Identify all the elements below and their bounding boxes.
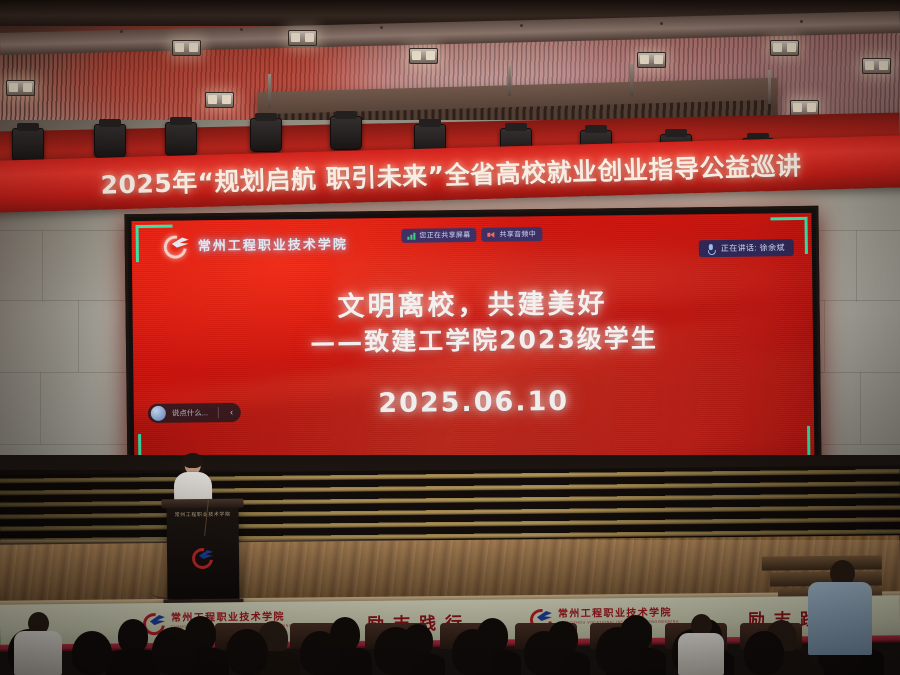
slide-brand-logo: 常州工程职业技术学院 [164,233,348,255]
truss-rod [508,66,511,96]
ceiling-downlight [637,52,666,68]
stage-par-light [94,124,126,158]
ceiling-downlight [205,92,234,108]
ceiling-downlight [862,58,891,74]
share-bracket-top-left [136,225,173,262]
signal-bars-icon [407,232,415,239]
ceiling-downlight [6,80,35,96]
podium-top [161,499,243,509]
truss-rod [268,74,271,108]
audio-share-label: 共享音频中 [499,229,536,239]
standing-person-right [808,560,872,655]
audience-head [596,627,640,675]
audience-head [72,631,112,675]
slide-subtitle: ——致建工学院2023级学生 [133,321,813,362]
led-screen-surface: 常州工程职业技术学院 您正在共享屏幕 共享音频中 正在讲话: 徐余斌 [131,213,814,475]
podium-name-plate: 常州工程职业技术学院 [171,511,235,519]
ceiling-downlight [770,40,799,56]
stage-par-light [250,118,282,152]
avatar-icon [151,406,166,421]
photo-scene: 2025年“规划启航 职引未来”全省高校就业创业指导公益巡讲 常州工程职业技术学… [0,0,900,675]
audience-head [744,631,784,675]
share-bracket-top-right [770,217,807,254]
ceiling-downlight [172,40,201,56]
speaker-icon [487,231,495,238]
slide-brand-name: 常州工程职业技术学院 [198,233,348,254]
stage-par-light [165,122,197,156]
ceiling-downlight [288,30,317,46]
audience-head [452,629,494,675]
slide-content: 文明离校，共建美好 ——致建工学院2023级学生 2025.06.10 [132,285,814,423]
standing-person-mid [678,614,724,675]
truss-rod [768,70,771,104]
sharing-label: 您正在共享屏幕 [419,230,470,241]
chat-input-bar[interactable]: 说点什么... ‹ [148,403,241,423]
audience-head [152,627,196,675]
microphone-icon [708,244,714,254]
slide-title: 文明离校，共建美好 [132,285,812,327]
sharing-indicator[interactable]: 您正在共享屏幕 [401,228,476,243]
chat-placeholder[interactable]: 说点什么... [172,407,212,418]
truss-rod [630,64,633,96]
screen-share-status: 您正在共享屏幕 共享音频中 [401,227,542,243]
ceiling-downlight [409,48,438,64]
stage-par-light [330,116,362,150]
audience-head [374,627,418,675]
audio-share-indicator[interactable]: 共享音频中 [481,227,542,242]
audience-head [300,631,340,675]
audience-head [118,619,148,653]
audience-head [524,631,564,675]
standing-person-left [14,612,62,675]
audience [0,595,900,675]
led-screen: 常州工程职业技术学院 您正在共享屏幕 共享音频中 正在讲话: 徐余斌 [124,206,821,482]
stage-par-light [12,128,44,162]
audience-head [226,629,268,675]
school-logo-icon [192,547,214,565]
chevron-left-icon[interactable]: ‹ [225,408,238,417]
